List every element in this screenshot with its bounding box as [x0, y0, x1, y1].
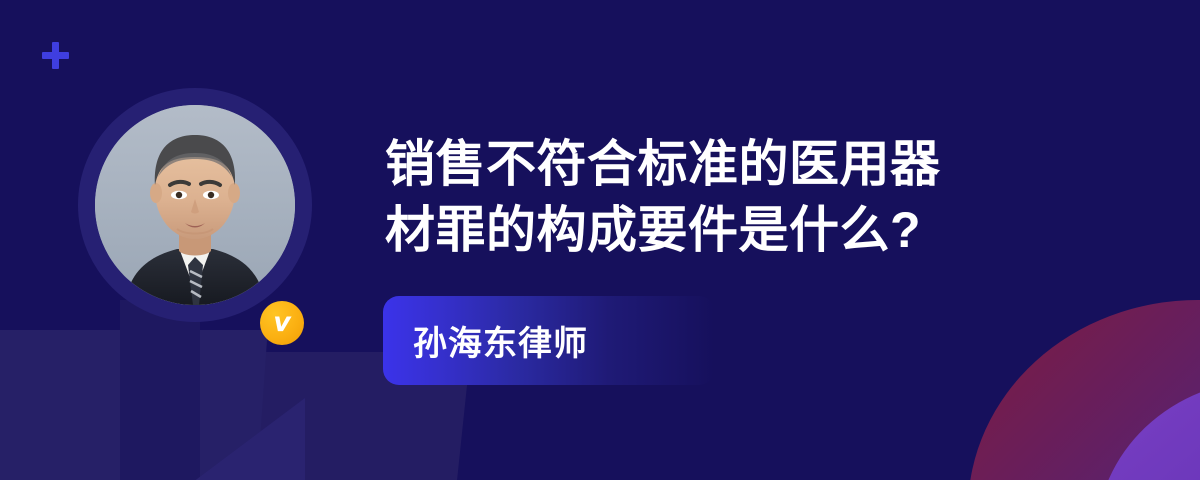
plus-icon: [42, 42, 69, 69]
decorative-wedge-secondary: [120, 300, 200, 480]
qa-banner: v 销售不符合标准的医用器 材罪的构成要件是什么? 孙海东律师: [0, 0, 1200, 480]
verified-v-glyph: v: [273, 309, 291, 336]
author-name-label: 孙海东律师: [413, 316, 588, 365]
author-name-badge[interactable]: 孙海东律师: [383, 296, 715, 385]
page-title-line-2: 材罪的构成要件是什么?: [385, 197, 1065, 263]
avatar-photo: [95, 105, 295, 305]
page-title: 销售不符合标准的医用器 材罪的构成要件是什么?: [385, 131, 1065, 263]
avatar: v: [78, 88, 312, 322]
page-title-line-1: 销售不符合标准的医用器: [385, 131, 1065, 197]
verified-v-icon: v: [260, 301, 304, 345]
